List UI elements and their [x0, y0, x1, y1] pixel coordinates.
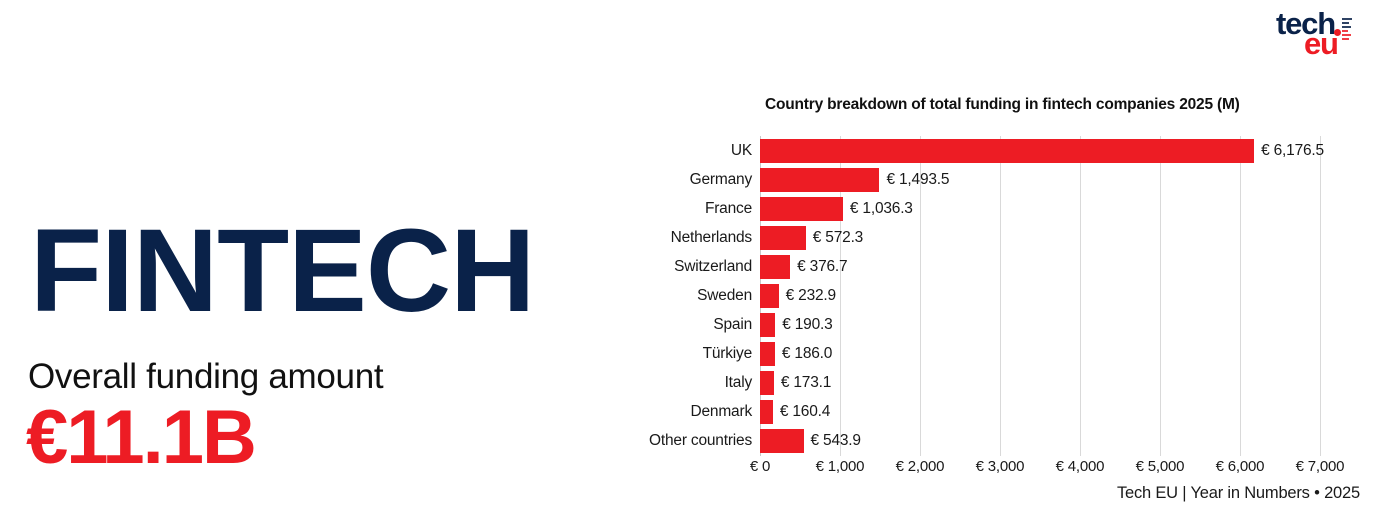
chart-category-label: Spain — [600, 310, 752, 339]
chart-row: Sweden€ 232.9 — [600, 281, 1373, 310]
chart-bar-container: € 572.3 — [760, 223, 1373, 252]
chart-value-label: € 232.9 — [779, 281, 836, 310]
chart-bar-container: € 543.9 — [760, 426, 1373, 455]
chart-bar[interactable] — [760, 342, 775, 366]
x-tick-label: € 0 — [750, 458, 770, 475]
chart-bar[interactable] — [760, 226, 806, 250]
chart-bar[interactable] — [760, 139, 1254, 163]
chart-category-label: Germany — [600, 165, 752, 194]
chart-bar-container: € 160.4 — [760, 397, 1373, 426]
chart-plot-area: UK€ 6,176.5Germany€ 1,493.5France€ 1,036… — [600, 136, 1373, 456]
chart-value-label: € 190.3 — [775, 310, 832, 339]
summary-total-value: €11.1B — [26, 396, 255, 480]
chart-row: Spain€ 190.3 — [600, 310, 1373, 339]
x-tick-label: € 1,000 — [816, 458, 865, 475]
chart-value-label: € 173.1 — [774, 368, 831, 397]
chart-bar[interactable] — [760, 284, 779, 308]
chart-value-label: € 543.9 — [804, 426, 861, 455]
x-tick-label: € 3,000 — [976, 458, 1025, 475]
chart-bar-container: € 190.3 — [760, 310, 1373, 339]
chart-category-label: France — [600, 194, 752, 223]
chart-bar-container: € 232.9 — [760, 281, 1373, 310]
x-tick-label: € 2,000 — [896, 458, 945, 475]
chart-row: Switzerland€ 376.7 — [600, 252, 1373, 281]
chart-bar-container: € 173.1 — [760, 368, 1373, 397]
chart-bar-rows: UK€ 6,176.5Germany€ 1,493.5France€ 1,036… — [600, 136, 1373, 456]
chart-value-label: € 6,176.5 — [1254, 136, 1324, 165]
chart-panel: Country breakdown of total funding in fi… — [600, 0, 1373, 518]
chart-x-axis-ticks: € 0€ 1,000€ 2,000€ 3,000€ 4,000€ 5,000€ … — [600, 458, 1373, 484]
chart-title: Country breakdown of total funding in fi… — [765, 96, 1240, 114]
chart-bar[interactable] — [760, 429, 804, 453]
chart-category-label: Other countries — [600, 426, 752, 455]
chart-category-label: Denmark — [600, 397, 752, 426]
x-tick-label: € 4,000 — [1056, 458, 1105, 475]
chart-row: Denmark€ 160.4 — [600, 397, 1373, 426]
summary-subtitle: Overall funding amount — [28, 358, 383, 397]
chart-row: Other countries€ 543.9 — [600, 426, 1373, 455]
chart-bar-container: € 186.0 — [760, 339, 1373, 368]
chart-row: France€ 1,036.3 — [600, 194, 1373, 223]
chart-value-label: € 1,036.3 — [843, 194, 913, 223]
chart-row: UK€ 6,176.5 — [600, 136, 1373, 165]
chart-value-label: € 186.0 — [775, 339, 832, 368]
chart-bar[interactable] — [760, 400, 773, 424]
chart-value-label: € 376.7 — [790, 252, 847, 281]
left-summary-panel: FINTECH Overall funding amount €11.1B — [0, 0, 600, 518]
chart-category-label: UK — [600, 136, 752, 165]
chart-bar[interactable] — [760, 255, 790, 279]
chart-value-label: € 160.4 — [773, 397, 830, 426]
chart-bar[interactable] — [760, 371, 774, 395]
chart-row: Netherlands€ 572.3 — [600, 223, 1373, 252]
chart-bar-container: € 1,493.5 — [760, 165, 1373, 194]
infographic-root: tech eu FINTECH Overall funding amount €… — [0, 0, 1373, 518]
chart-row: Germany€ 1,493.5 — [600, 165, 1373, 194]
chart-bar-container: € 376.7 — [760, 252, 1373, 281]
chart-row: Italy€ 173.1 — [600, 368, 1373, 397]
page-title: FINTECH — [30, 212, 534, 330]
chart-category-label: Netherlands — [600, 223, 752, 252]
chart-category-label: Switzerland — [600, 252, 752, 281]
x-tick-label: € 5,000 — [1136, 458, 1185, 475]
x-tick-label: € 7,000 — [1296, 458, 1345, 475]
chart-category-label: Sweden — [600, 281, 752, 310]
chart-category-label: Italy — [600, 368, 752, 397]
x-tick-label: € 6,000 — [1216, 458, 1265, 475]
footer-attribution: Tech EU | Year in Numbers • 2025 — [1117, 484, 1360, 503]
chart-bar-container: € 6,176.5 — [760, 136, 1373, 165]
chart-bar[interactable] — [760, 313, 775, 337]
chart-value-label: € 1,493.5 — [879, 165, 949, 194]
chart-row: Türkiye€ 186.0 — [600, 339, 1373, 368]
chart-bar[interactable] — [760, 197, 843, 221]
chart-category-label: Türkiye — [600, 339, 752, 368]
chart-value-label: € 572.3 — [806, 223, 863, 252]
chart-bar-container: € 1,036.3 — [760, 194, 1373, 223]
chart-bar[interactable] — [760, 168, 879, 192]
